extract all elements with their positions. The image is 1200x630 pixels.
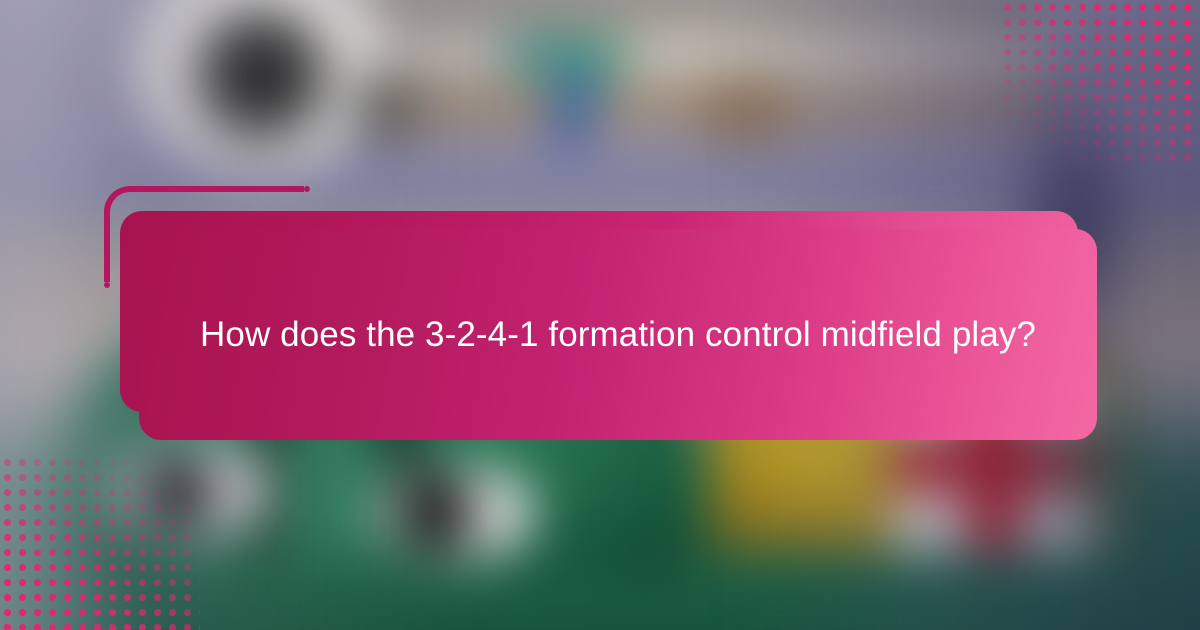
question-card: How does the 3-2-4-1 formation control m…	[139, 229, 1097, 440]
question-headline: How does the 3-2-4-1 formation control m…	[139, 310, 1097, 360]
halftone-dots-bottom-left-icon	[0, 455, 200, 630]
halftone-dots-top-right-icon	[1000, 0, 1200, 170]
share-card-canvas: How does the 3-2-4-1 formation control m…	[0, 0, 1200, 630]
